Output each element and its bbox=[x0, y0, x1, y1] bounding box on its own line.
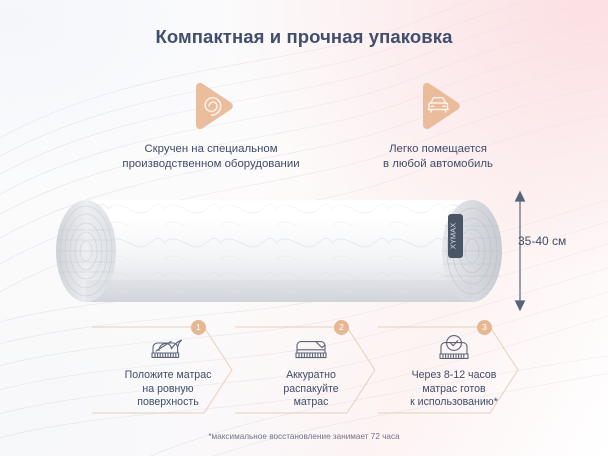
vertical-double-arrow-icon bbox=[500, 188, 608, 314]
step-item-3: Через 8-12 часов матрас готов к использо… bbox=[378, 324, 530, 416]
steps-row: Положите матрас на ровную поверхность Ак… bbox=[92, 324, 522, 416]
mattress-unroll-icon bbox=[147, 332, 189, 366]
feature-item-rolled: Скручен на специальном производственном … bbox=[88, 78, 334, 172]
dimension-indicator bbox=[500, 188, 608, 314]
promo-banner: Компактная и прочная упаковка Скручен на… bbox=[0, 0, 608, 456]
feature-caption: Скручен на специальном производственном … bbox=[88, 142, 334, 172]
mattress-ready-check-icon bbox=[433, 332, 475, 366]
page-title: Компактная и прочная упаковка bbox=[0, 26, 608, 48]
feature-item-car: Легко помещается в любой автомобиль bbox=[330, 78, 546, 172]
step-badge-2: 2 bbox=[334, 320, 349, 335]
step-text: Аккуратно распакуйте матрас bbox=[235, 369, 387, 410]
step-badge-1: 1 bbox=[191, 320, 206, 335]
car-icon bbox=[410, 78, 466, 134]
step-badge-3: 3 bbox=[477, 320, 492, 335]
feature-caption: Легко помещается в любой автомобиль bbox=[330, 142, 546, 172]
footnote: *максимальное восстановление занимает 72… bbox=[0, 432, 608, 441]
rolled-mattress-image: XYMAX bbox=[52, 192, 504, 310]
step-item-2: Аккуратно распакуйте матрас bbox=[235, 324, 387, 416]
mattress-unpack-icon bbox=[290, 332, 332, 366]
brand-tag-label: XYMAX bbox=[449, 223, 458, 249]
spiral-roll-icon bbox=[183, 78, 239, 134]
step-item-1: Положите матрас на ровную поверхность bbox=[92, 324, 244, 416]
step-text: Положите матрас на ровную поверхность bbox=[92, 369, 244, 410]
brand-tag: XYMAX bbox=[448, 214, 463, 258]
dimension-label: 35-40 см bbox=[518, 234, 566, 248]
step-text: Через 8-12 часов матрас готов к использо… bbox=[378, 369, 530, 410]
